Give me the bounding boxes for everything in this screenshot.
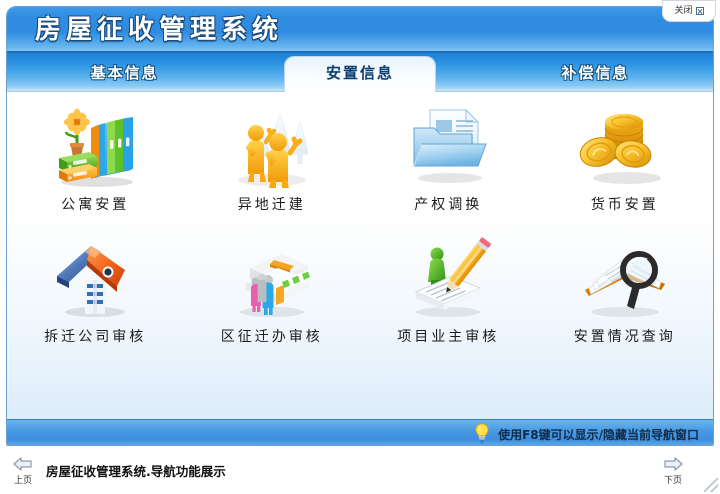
main-panel: 房屋征收管理系统 基本信息 安置信息 补偿信息 bbox=[6, 6, 714, 446]
application-window: 关闭 房屋征收管理系统 基本信息 安置信息 补偿信息 bbox=[0, 0, 720, 494]
grid-item-district-office-review[interactable]: 区征迁办审核 bbox=[184, 232, 361, 364]
hint-text: 使用F8键可以显示/隐藏当前导航窗口 bbox=[498, 426, 699, 443]
grid-item-label: 产权调换 bbox=[414, 194, 482, 214]
grid-item-resettlement-query[interactable]: 安置情况查询 bbox=[537, 232, 714, 364]
grid-item-label: 拆迁公司审核 bbox=[44, 326, 146, 346]
grid-item-label: 公寓安置 bbox=[61, 194, 129, 214]
books-binders-plant-icon bbox=[47, 100, 143, 192]
close-button[interactable]: 关闭 bbox=[662, 0, 716, 22]
close-box-icon bbox=[696, 7, 704, 15]
grid-item-label: 异地迁建 bbox=[238, 194, 306, 214]
house-roof-icon bbox=[47, 232, 143, 324]
grid-item-apartment-resettlement[interactable]: 公寓安置 bbox=[7, 100, 184, 232]
grid-item-label: 货币安置 bbox=[591, 194, 659, 214]
title-bar: 房屋征收管理系统 bbox=[7, 7, 713, 53]
close-button-label: 关闭 bbox=[674, 7, 692, 16]
tab-compensation-info[interactable]: 补偿信息 bbox=[478, 53, 713, 91]
shop-people-icon bbox=[224, 232, 320, 324]
resize-grip[interactable] bbox=[704, 478, 718, 492]
arrow-left-icon bbox=[12, 456, 34, 476]
icon-grid: 公寓安置 bbox=[7, 100, 713, 364]
folder-document-icon bbox=[400, 100, 496, 192]
lightbulb-icon bbox=[474, 423, 490, 445]
grid-item-project-owner-review[interactable]: 项目业主审核 bbox=[360, 232, 537, 364]
grid-item-label: 区征迁办审核 bbox=[221, 326, 323, 346]
grid-item-label: 安置情况查询 bbox=[574, 326, 676, 346]
prev-page-button[interactable]: 上页 bbox=[4, 453, 42, 489]
next-page-button[interactable]: 下页 bbox=[654, 453, 692, 489]
document-pencil-icon bbox=[400, 232, 496, 324]
tab-resettlement-info[interactable]: 安置信息 bbox=[242, 53, 477, 91]
gold-coins-icon bbox=[577, 100, 673, 192]
tab-label: 补偿信息 bbox=[561, 62, 629, 83]
prev-page-label: 上页 bbox=[14, 477, 32, 486]
status-bar: 上页 房屋征收管理系统.导航功能展示 下页 bbox=[0, 447, 720, 494]
grid-item-label: 项目业主审核 bbox=[397, 326, 499, 346]
page-title: 房屋征收管理系统 bbox=[35, 11, 283, 49]
tab-label: 安置信息 bbox=[326, 62, 394, 83]
grid-item-demolition-company-review[interactable]: 拆迁公司审核 bbox=[7, 232, 184, 364]
tab-label: 基本信息 bbox=[91, 62, 159, 83]
grid-item-monetary-resettlement[interactable]: 货币安置 bbox=[537, 100, 714, 232]
arrow-right-icon bbox=[662, 456, 684, 476]
tab-strip: 基本信息 安置信息 补偿信息 bbox=[7, 53, 713, 92]
hint-bar: 使用F8键可以显示/隐藏当前导航窗口 bbox=[7, 419, 713, 446]
grid-item-property-swap[interactable]: 产权调换 bbox=[360, 100, 537, 232]
book-magnifier-icon bbox=[577, 232, 673, 324]
two-people-trees-icon bbox=[224, 100, 320, 192]
next-page-label: 下页 bbox=[664, 477, 682, 486]
status-text: 房屋征收管理系统.导航功能展示 bbox=[46, 461, 226, 480]
tab-basic-info[interactable]: 基本信息 bbox=[7, 53, 242, 91]
content-area: 公寓安置 bbox=[7, 92, 713, 446]
grid-item-relocation-rebuild[interactable]: 异地迁建 bbox=[184, 100, 361, 232]
